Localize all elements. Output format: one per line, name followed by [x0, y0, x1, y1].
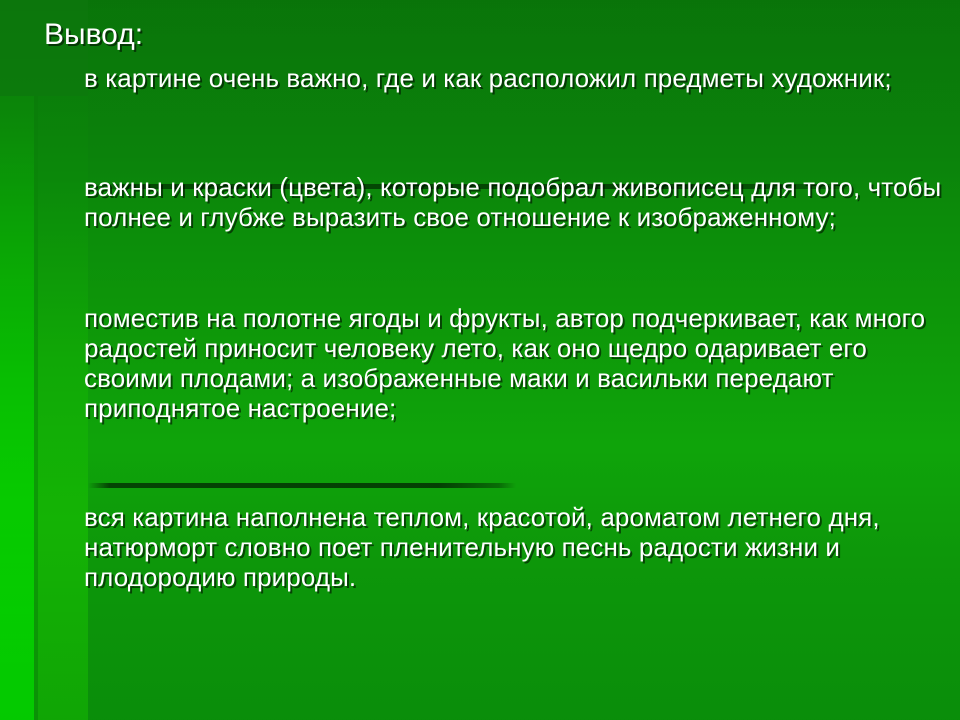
slide-content: Вывод: в картине очень важно, где и как …	[0, 0, 960, 720]
page-title: Вывод:	[44, 17, 143, 53]
presentation-slide: Вывод: в картине очень важно, где и как …	[0, 0, 960, 720]
conclusion-item-2: важны и краски (цвета), которые подобрал…	[84, 172, 960, 232]
conclusion-item-1: в картине очень важно, где и как располо…	[84, 63, 892, 93]
conclusion-item-4: вся картина наполнена теплом, красотой, …	[84, 502, 960, 592]
conclusion-item-3: поместив на полотне ягоды и фрукты, авто…	[84, 303, 960, 423]
